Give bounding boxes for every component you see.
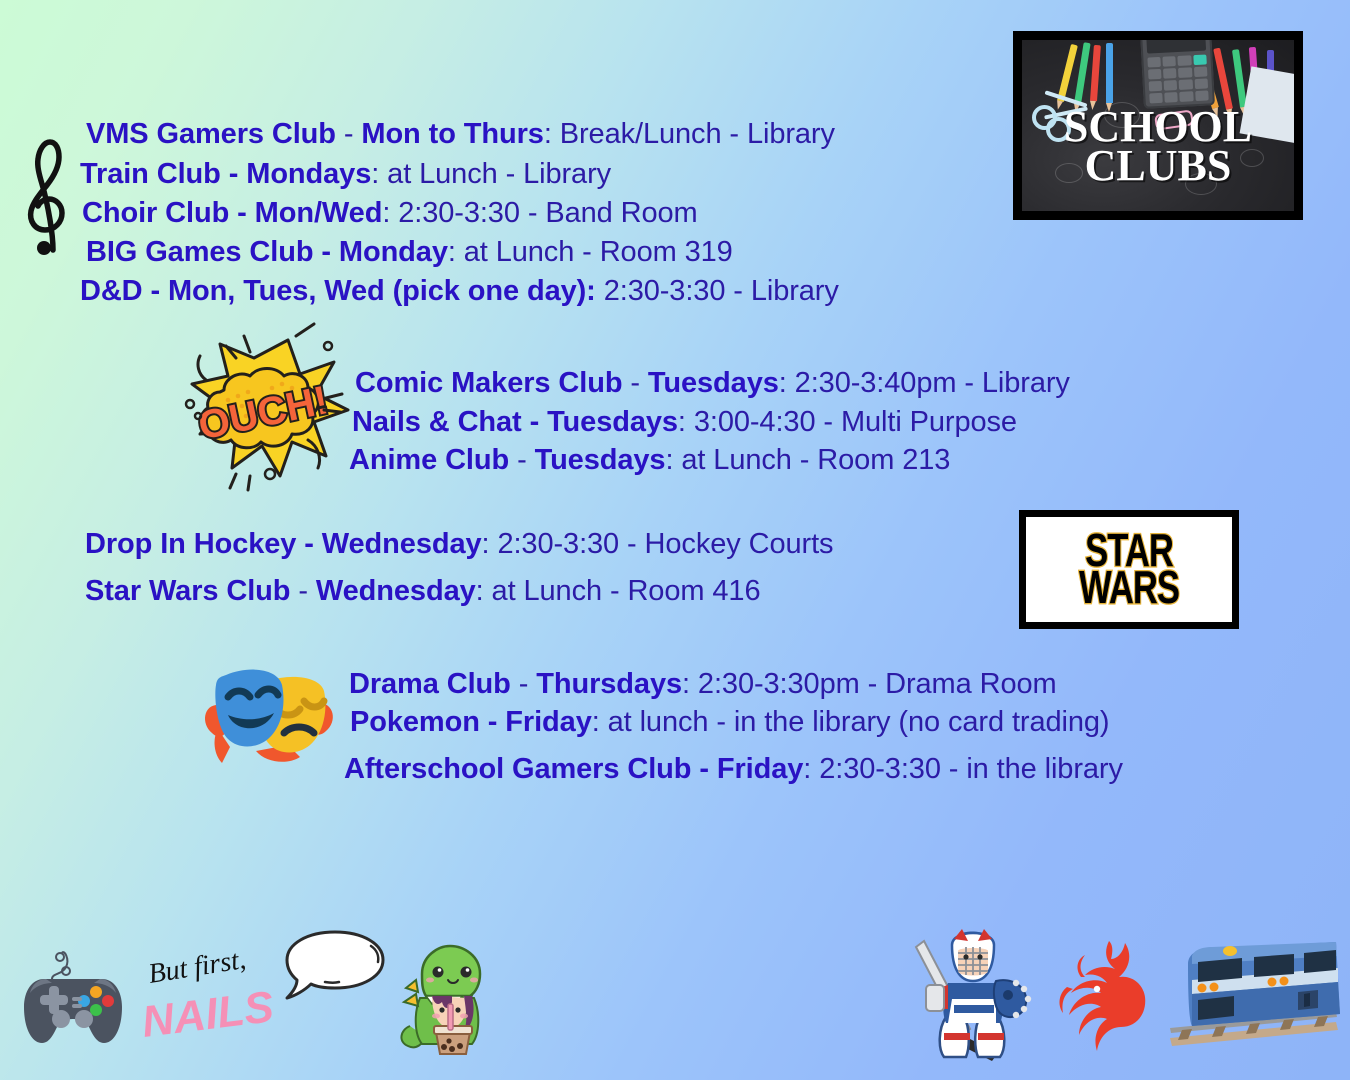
club-name: Train Club - Mondays bbox=[80, 158, 371, 190]
club-line-anime-club: Anime Club - Tuesdays: at Lunch - Room 2… bbox=[349, 446, 950, 475]
club-line-star-wars-club: Star Wars Club - Wednesday: at Lunch - R… bbox=[85, 577, 760, 606]
calculator-keys bbox=[1147, 54, 1209, 103]
club-details: : 3:00-4:30 - Multi Purpose bbox=[678, 406, 1017, 438]
club-name: Drop In Hockey - Wednesday bbox=[85, 528, 482, 560]
club-name: Pokemon - Friday bbox=[350, 706, 592, 738]
school-clubs-title: SCHOOL CLUBS bbox=[1022, 108, 1294, 185]
gamepad-button-yellow bbox=[90, 986, 102, 998]
train-headlight bbox=[1280, 977, 1289, 986]
club-name: Choir Club - Mon/Wed bbox=[82, 197, 382, 229]
hockey-goalie-icon bbox=[912, 925, 1037, 1065]
club-line-pokemon: Pokemon - Friday: at lunch - in the libr… bbox=[350, 708, 1109, 737]
pencil-icon bbox=[1106, 43, 1113, 103]
calculator-icon bbox=[1140, 40, 1215, 108]
club-line-drop-in-hockey: Drop In Hockey - Wednesday: 2:30-3:30 - … bbox=[85, 530, 833, 559]
club-details: : 2:30-3:30 - in the library bbox=[803, 753, 1123, 785]
club-separator: - bbox=[336, 118, 361, 150]
drama-masks-svg bbox=[196, 655, 344, 767]
nails-bold-line: NAILS bbox=[139, 982, 276, 1047]
school-clubs-title-line2: CLUBS bbox=[1022, 147, 1294, 186]
club-line-afterschool-gamers: Afterschool Gamers Club - Friday: 2:30-3… bbox=[344, 755, 1123, 784]
club-name: Anime Club bbox=[349, 444, 509, 476]
club-separator: - bbox=[509, 444, 534, 476]
hockey-goalie-svg bbox=[912, 925, 1037, 1065]
club-line-drama-club: Drama Club - Thursdays: 2:30-3:30pm - Dr… bbox=[349, 670, 1057, 699]
club-details: : at Lunch - Room 213 bbox=[665, 444, 950, 476]
speech-bubble-svg bbox=[283, 928, 388, 1008]
pencil-icon bbox=[1232, 49, 1247, 107]
school-clubs-banner-image: SCHOOL CLUBS bbox=[1013, 31, 1303, 220]
club-day: Tuesdays bbox=[648, 367, 779, 399]
treble-clef-icon bbox=[22, 136, 82, 256]
club-line-train-club: Train Club - Mondays: at Lunch - Library bbox=[80, 160, 611, 189]
nails-svg: But first, NAILS bbox=[140, 945, 275, 1050]
club-name: Afterschool Gamers Club - Friday bbox=[344, 753, 803, 785]
dragon-body bbox=[1069, 941, 1145, 1051]
train-icon bbox=[1168, 940, 1343, 1055]
club-line-comic-makers: Comic Makers Club - Tuesdays: 2:30-3:40p… bbox=[355, 369, 1070, 398]
star-wars-logo-line2: WARS bbox=[1079, 569, 1179, 608]
train-svg bbox=[1168, 940, 1343, 1055]
club-details: : 2:30-3:40pm - Library bbox=[779, 367, 1070, 399]
club-line-choir-club: Choir Club - Mon/Wed: 2:30-3:30 - Band R… bbox=[82, 199, 698, 228]
club-line-dnd: D&D - Mon, Tues, Wed (pick one day): 2:3… bbox=[80, 277, 839, 306]
ouch-comic-sticker: OUCH! bbox=[176, 322, 358, 492]
dragon-eye bbox=[1094, 986, 1100, 992]
calculator-screen bbox=[1146, 40, 1206, 53]
club-separator: - bbox=[622, 367, 647, 399]
club-line-big-games-club: BIG Games Club - Monday: at Lunch - Room… bbox=[86, 238, 733, 267]
club-name: BIG Games Club - Monday bbox=[86, 236, 448, 268]
ouch-sticker-svg: OUCH! bbox=[176, 322, 358, 492]
club-details: 2:30-3:30 - Library bbox=[596, 275, 839, 307]
club-details: : 2:30-3:30 - Band Room bbox=[382, 197, 697, 229]
club-line-nails-and-chat: Nails & Chat - Tuesdays: 3:00-4:30 - Mul… bbox=[352, 408, 1017, 437]
school-clubs-poster: VMS Gamers Club - Mon to Thurs: Break/Lu… bbox=[0, 0, 1350, 1080]
drama-masks-icon bbox=[196, 655, 344, 767]
club-day: Wednesday bbox=[316, 575, 476, 607]
star-wars-logo-inner: STAR WARS bbox=[1026, 517, 1232, 622]
club-name: Nails & Chat - Tuesdays bbox=[352, 406, 678, 438]
club-separator: - bbox=[290, 575, 315, 607]
chalkboard-background: SCHOOL CLUBS bbox=[1022, 40, 1294, 211]
speech-bubble-icon bbox=[283, 928, 388, 1008]
gamepad-icon bbox=[18, 945, 128, 1050]
club-day: Mon to Thurs bbox=[361, 118, 543, 150]
train-headlight bbox=[1268, 978, 1277, 987]
club-name: Star Wars Club bbox=[85, 575, 290, 607]
club-name: Comic Makers Club bbox=[355, 367, 622, 399]
club-day: Thursdays bbox=[536, 668, 682, 700]
club-details: : at Lunch - Library bbox=[371, 158, 611, 190]
club-details: : at Lunch - Room 319 bbox=[448, 236, 733, 268]
club-details: : 2:30-3:30 - Hockey Courts bbox=[482, 528, 834, 560]
dragon-svg bbox=[1045, 935, 1165, 1055]
club-name: VMS Gamers Club bbox=[86, 118, 336, 150]
nails-text-icon: But first, NAILS bbox=[140, 945, 275, 1050]
club-details: : at Lunch - Room 416 bbox=[476, 575, 761, 607]
treble-clef-dot bbox=[37, 241, 51, 255]
club-name: D&D - Mon, Tues, Wed (pick one day): bbox=[80, 275, 596, 307]
star-wars-logo: STAR WARS bbox=[1019, 510, 1239, 629]
boba-girl-svg bbox=[392, 940, 502, 1055]
nails-script-line: But first, bbox=[146, 944, 248, 990]
train-roof-light bbox=[1223, 946, 1237, 956]
gamepad-button-green bbox=[90, 1004, 102, 1016]
club-line-vms-gamers: VMS Gamers Club - Mon to Thurs: Break/Lu… bbox=[86, 120, 835, 149]
club-separator: - bbox=[511, 668, 536, 700]
pencil-icon bbox=[1090, 45, 1101, 101]
treble-clef-svg bbox=[22, 136, 82, 256]
club-details: : at lunch - in the library (no card tra… bbox=[592, 706, 1110, 738]
gamepad-body bbox=[24, 979, 122, 1043]
train-headlight bbox=[1198, 984, 1207, 993]
gamepad-svg bbox=[18, 945, 128, 1050]
club-name: Drama Club bbox=[349, 668, 511, 700]
dragon-icon bbox=[1045, 935, 1165, 1055]
club-day: Tuesdays bbox=[535, 444, 666, 476]
train-headlight bbox=[1210, 983, 1219, 992]
gamepad-button-red bbox=[102, 995, 114, 1007]
club-details: : 2:30-3:30pm - Drama Room bbox=[682, 668, 1057, 700]
club-details: : Break/Lunch - Library bbox=[544, 118, 835, 150]
boba-dinosaur-girl-icon bbox=[392, 940, 502, 1055]
